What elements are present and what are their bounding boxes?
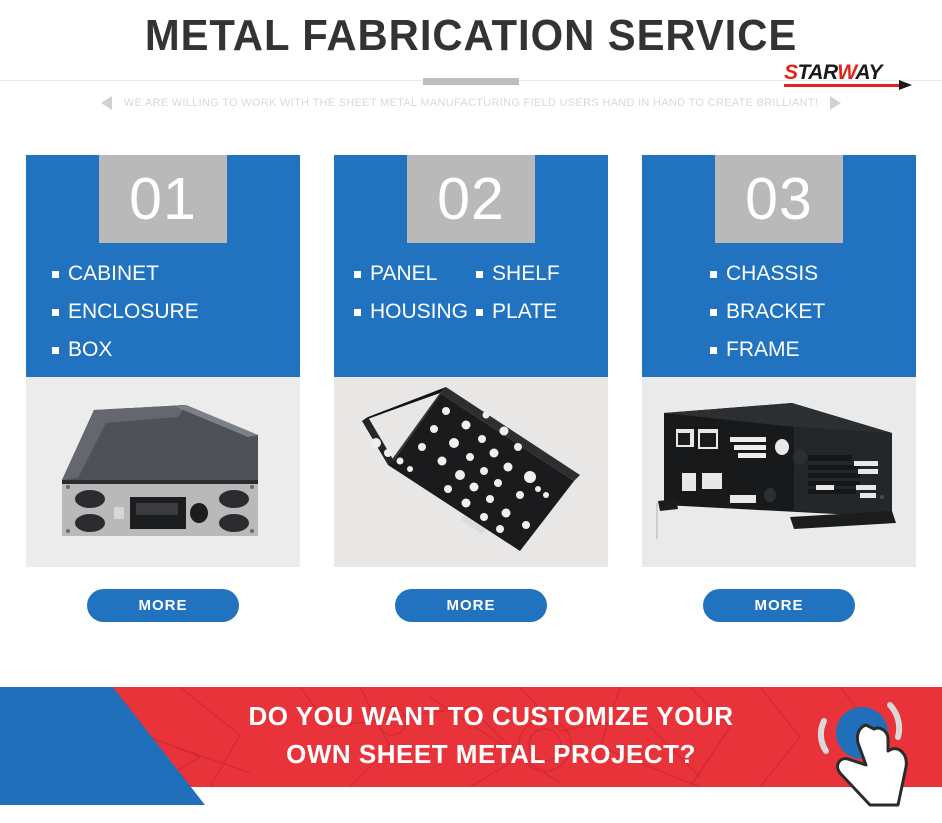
list-item-label: BRACKET: [726, 293, 825, 331]
square-bullet-icon: [354, 309, 361, 316]
page-title: METAL FABRICATION SERVICE: [24, 0, 919, 62]
cta-banner[interactable]: DO YOU WANT TO CUSTOMIZE YOUR OWN SHEET …: [0, 673, 942, 823]
list-item: CHASSIS: [710, 255, 896, 293]
more-row-03: MORE: [642, 589, 916, 622]
divider-tab: [423, 78, 519, 85]
banner-line-1: DO YOU WANT TO CUSTOMIZE YOUR: [40, 697, 942, 735]
list-item: FRAME: [710, 331, 896, 369]
square-bullet-icon: [710, 309, 717, 316]
list-item-label: CHASSIS: [726, 255, 818, 293]
list-item: PLATE: [476, 293, 588, 331]
list-item: BRACKET: [710, 293, 896, 331]
triangle-right-icon[interactable]: [830, 96, 841, 110]
tagline-row: WE ARE WILLING TO WORK WITH THE SHEET ME…: [0, 96, 942, 110]
list-item-label: ENCLOSURE: [68, 293, 199, 331]
logo-wordmark: STARWAY: [784, 62, 914, 83]
tagline-text: WE ARE WILLING TO WORK WITH THE SHEET ME…: [124, 97, 818, 109]
list-item: SHELF: [476, 255, 588, 293]
list-item: BOX: [52, 331, 280, 369]
list-item-label: HOUSING: [370, 293, 468, 331]
list-item: ENCLOSURE: [52, 293, 280, 331]
logo-text-ay: AY: [855, 61, 882, 84]
card-item-list: CHASSIS BRACKET FRAME: [642, 255, 916, 369]
banner-heading: DO YOU WANT TO CUSTOMIZE YOUR OWN SHEET …: [0, 697, 942, 773]
list-item-label: PLATE: [492, 293, 557, 331]
list-item: PANEL: [354, 255, 468, 293]
square-bullet-icon: [476, 309, 483, 316]
more-row-01: MORE: [26, 589, 300, 622]
list-item: HOUSING: [354, 293, 468, 331]
card-header-03: 03 CHASSIS BRACKET FRAME: [642, 155, 916, 377]
list-item: CABINET: [52, 255, 280, 293]
square-bullet-icon: [476, 271, 483, 278]
card-photo-01: [26, 377, 300, 567]
more-button-01[interactable]: MORE: [87, 589, 239, 622]
square-bullet-icon: [52, 309, 59, 316]
list-item-label: FRAME: [726, 331, 800, 369]
more-button-02[interactable]: MORE: [395, 589, 547, 622]
list-item-label: PANEL: [370, 255, 437, 293]
card-photo-02: [334, 377, 608, 567]
card-number-badge: 03: [715, 155, 843, 243]
perforated-sheet-metal-panel-photo: [334, 377, 608, 567]
starway-logo: STARWAY: [784, 62, 914, 92]
card-header-02: 02 PANEL HOUSING SHELF: [334, 155, 608, 377]
square-bullet-icon: [710, 347, 717, 354]
card-item-column-left: PANEL HOUSING: [354, 255, 468, 331]
product-card-02: 02 PANEL HOUSING SHELF: [334, 155, 608, 622]
card-number-badge: 02: [407, 155, 535, 243]
square-bullet-icon: [710, 271, 717, 278]
list-item-label: CABINET: [68, 255, 159, 293]
logo-text-tar: TAR: [798, 61, 838, 84]
square-bullet-icon: [52, 271, 59, 278]
banner-line-2: OWN SHEET METAL PROJECT?: [40, 735, 942, 773]
square-bullet-icon: [52, 347, 59, 354]
card-item-list: PANEL HOUSING SHELF PLATE: [334, 255, 608, 331]
product-card-list: 01 CABINET ENCLOSURE BOX: [0, 155, 942, 622]
product-card-03: 03 CHASSIS BRACKET FRAME: [642, 155, 916, 622]
list-item-label: SHELF: [492, 255, 560, 293]
card-header-01: 01 CABINET ENCLOSURE BOX: [26, 155, 300, 377]
card-item-column-right: SHELF PLATE: [476, 255, 588, 331]
more-row-02: MORE: [334, 589, 608, 622]
pointing-hand-click-icon[interactable]: [814, 693, 924, 811]
logo-underline-arrow-icon: [784, 84, 902, 87]
triangle-left-icon[interactable]: [101, 96, 112, 110]
card-item-list: CABINET ENCLOSURE BOX: [26, 255, 300, 369]
page-header: METAL FABRICATION SERVICE STARWAY WE ARE…: [0, 0, 942, 140]
logo-letter-w: W: [837, 61, 855, 84]
logo-letter-s: S: [784, 61, 798, 84]
metal-cabinet-enclosure-photo: [26, 377, 300, 567]
list-item-label: BOX: [68, 331, 112, 369]
black-metal-chassis-photo: [642, 377, 916, 567]
card-number-badge: 01: [99, 155, 227, 243]
card-photo-03: [642, 377, 916, 567]
square-bullet-icon: [354, 271, 361, 278]
product-card-01: 01 CABINET ENCLOSURE BOX: [26, 155, 300, 622]
more-button-03[interactable]: MORE: [703, 589, 855, 622]
